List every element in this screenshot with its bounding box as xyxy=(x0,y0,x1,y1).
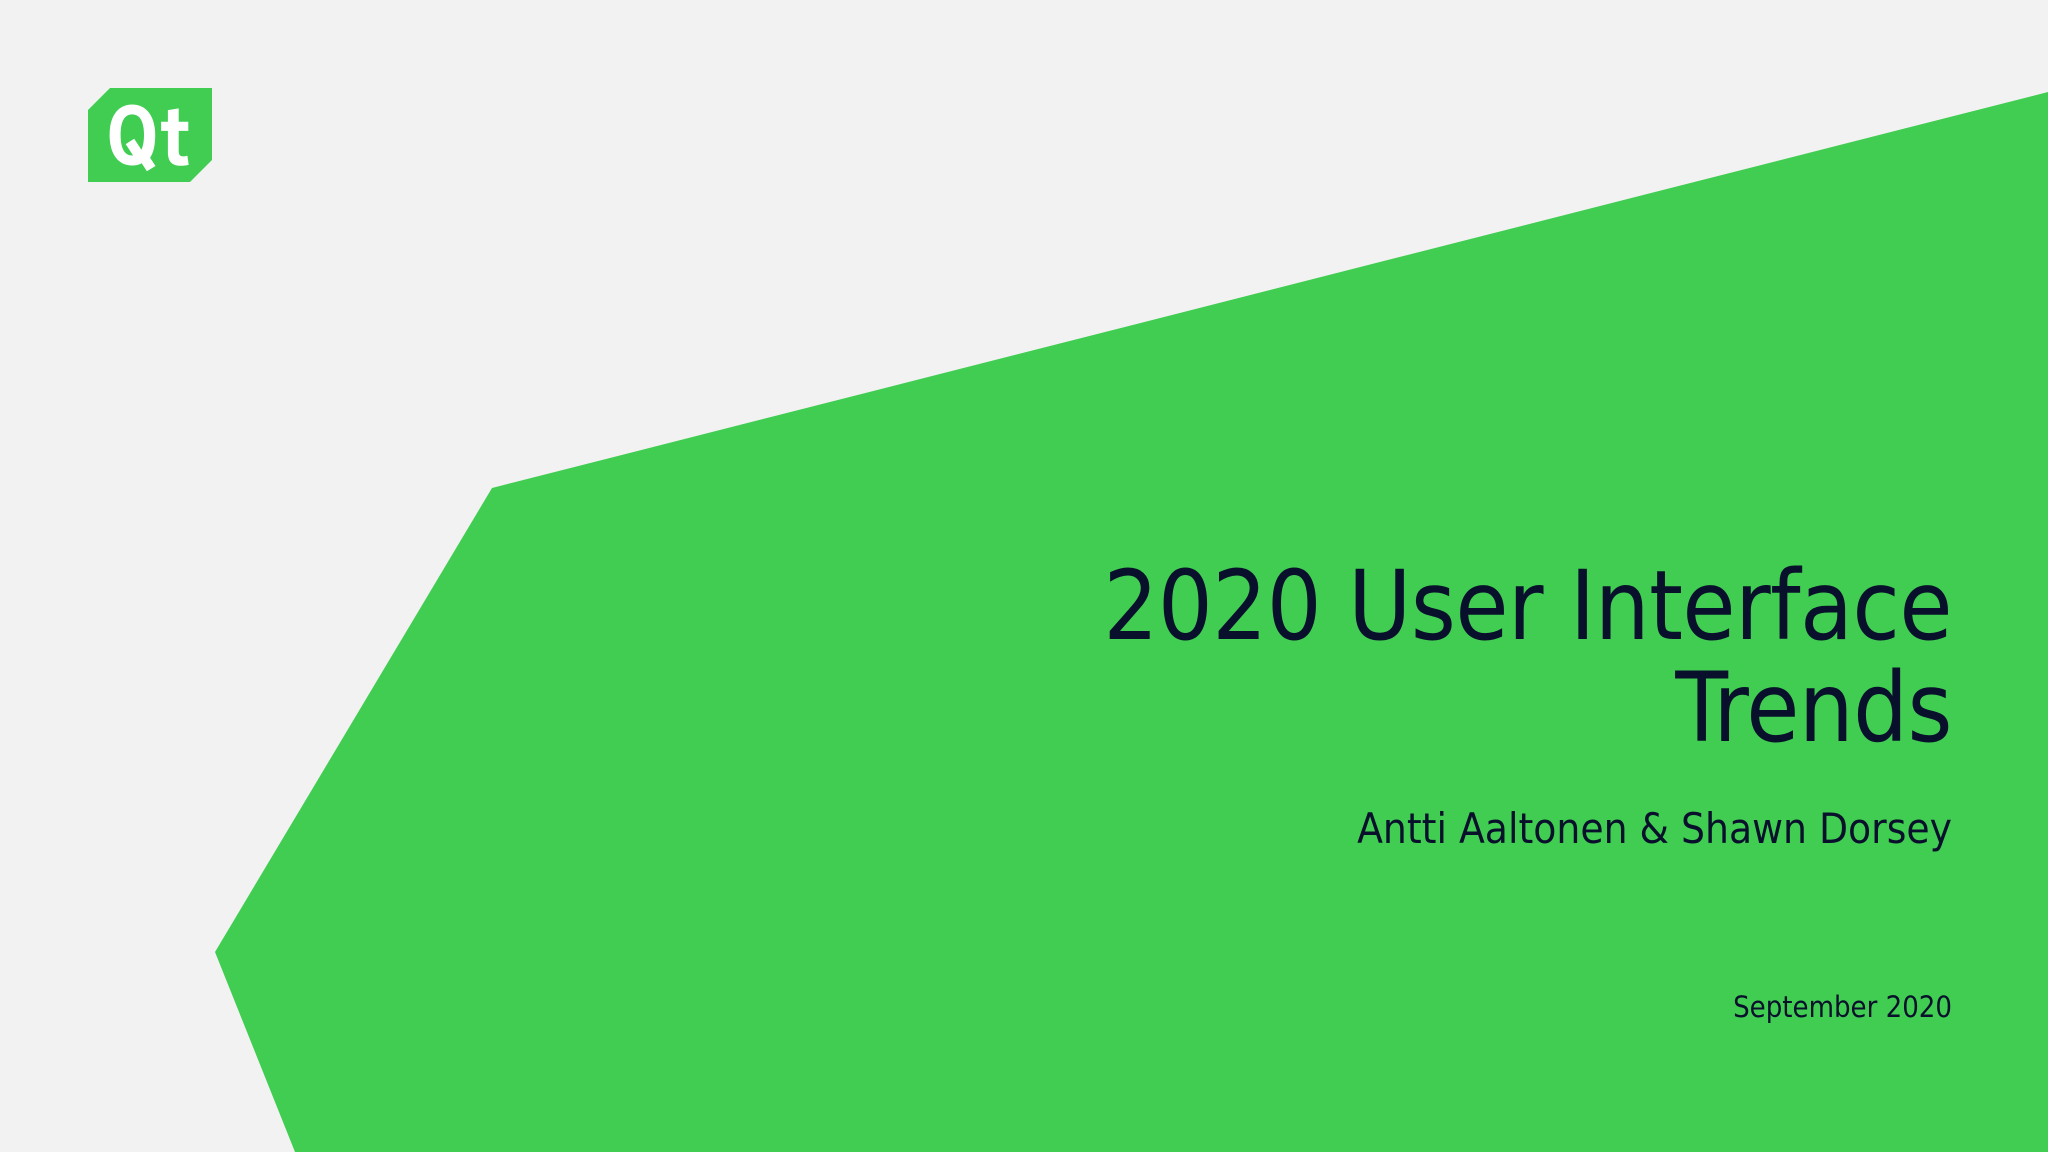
qt-logo xyxy=(88,88,212,182)
slide-date: September 2020 xyxy=(1052,990,1952,1025)
title-block: 2020 User Interface Trends Antti Aaltone… xyxy=(652,556,1952,854)
presenter-names: Antti Aaltonen & Shawn Dorsey xyxy=(652,804,1952,854)
page-title: 2020 User Interface Trends xyxy=(652,556,1952,760)
title-slide: 2020 User Interface Trends Antti Aaltone… xyxy=(0,0,2048,1152)
qt-logo-icon xyxy=(88,88,212,182)
